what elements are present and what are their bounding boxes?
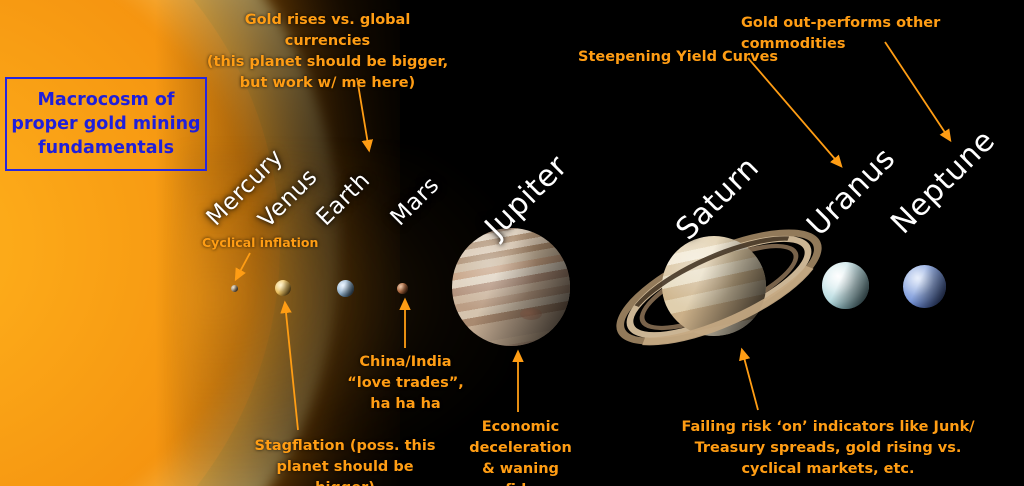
annotation-neptune: Gold out-performs other commodities (741, 13, 1024, 55)
planet-mars (397, 283, 408, 294)
planet-neptune (903, 265, 946, 308)
title-callout-box: Macrocosm of proper gold mining fundamen… (5, 77, 207, 171)
planet-venus (275, 280, 291, 296)
annotation-venus: Stagflation (poss. this planet should be… (250, 436, 440, 486)
planet-uranus (822, 262, 869, 309)
planet-jupiter (452, 228, 570, 346)
annotation-earth: Gold rises vs. global currencies (this p… (205, 10, 450, 94)
title-line-1: Macrocosm of (37, 88, 174, 112)
annotation-saturn: Failing risk ‘on’ indicators like Junk/ … (632, 417, 1024, 480)
title-line-3: fundamentals (38, 136, 174, 160)
planet-mercury (231, 285, 238, 292)
solar-system-infographic: Mercury Venus Earth Mars Jupiter Saturn … (0, 0, 1024, 486)
annotation-jupiter: Economic deceleration & waning confidenc… (438, 417, 603, 486)
annotation-mars: China/India “love trades”, ha ha ha (343, 352, 468, 415)
planet-saturn (612, 212, 826, 362)
planet-earth (337, 280, 354, 297)
title-line-2: proper gold mining (11, 112, 200, 136)
annotation-mercury: Cyclical inflation (202, 234, 318, 252)
